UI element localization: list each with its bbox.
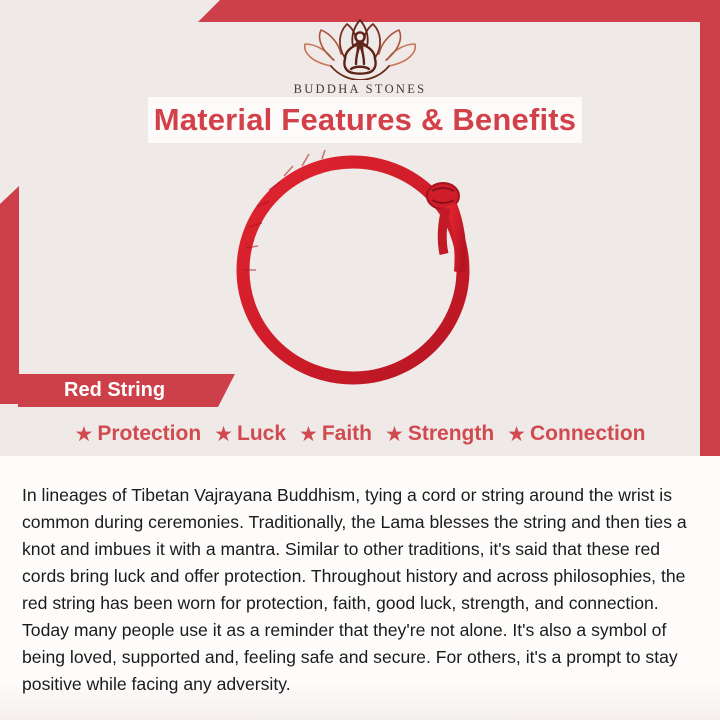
star-icon: ★ xyxy=(507,424,526,445)
brand-logo: BUDDHA STONES xyxy=(0,14,720,97)
description-panel: In lineages of Tibetan Vajrayana Buddhis… xyxy=(0,456,720,720)
benefit-item: ★ Luck xyxy=(214,422,286,446)
benefit-item: ★ Protection xyxy=(75,422,202,446)
benefit-label: Faith xyxy=(322,422,372,446)
benefit-label: Protection xyxy=(97,422,201,446)
page-title: Material Features & Benefits xyxy=(154,102,577,138)
benefit-label: Connection xyxy=(530,422,646,446)
product-label: Red String xyxy=(18,379,165,402)
description-text: In lineages of Tibetan Vajrayana Buddhis… xyxy=(22,482,700,698)
star-icon: ★ xyxy=(299,424,318,445)
benefit-label: Luck xyxy=(237,422,286,446)
benefits-row: ★ Protection ★ Luck ★ Faith ★ Strength ★… xyxy=(0,422,720,446)
product-image xyxy=(0,150,720,395)
infographic-page: BUDDHA STONES Material Features & Benefi… xyxy=(0,0,720,720)
benefit-item: ★ Strength xyxy=(385,422,494,446)
star-icon: ★ xyxy=(385,424,404,445)
star-icon: ★ xyxy=(75,424,94,445)
benefit-item: ★ Connection xyxy=(507,422,645,446)
star-icon: ★ xyxy=(214,424,233,445)
title-panel: Material Features & Benefits xyxy=(148,97,582,143)
red-braided-string-bracelet-icon xyxy=(210,150,510,390)
benefit-item: ★ Faith xyxy=(299,422,372,446)
brand-name: BUDDHA STONES xyxy=(0,82,720,97)
benefit-label: Strength xyxy=(408,422,494,446)
lotus-meditation-icon xyxy=(0,14,720,80)
product-label-banner: Red String xyxy=(18,374,235,407)
